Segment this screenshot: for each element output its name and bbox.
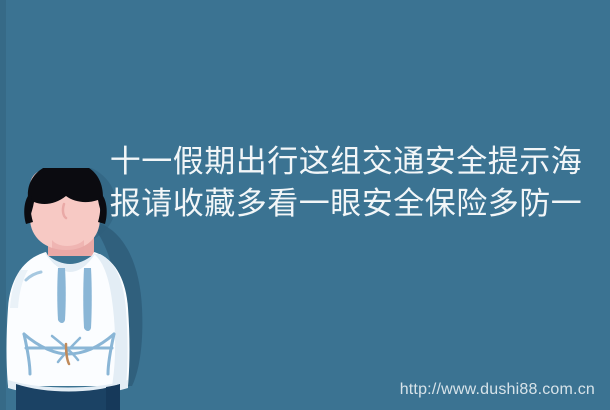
- headline-line-1: 十一假期出行这组交通安全提示海: [96, 141, 596, 183]
- thumbnail-canvas: 十一假期出行这组交通安全提示海 报请收藏多看一眼安全保险多防一 http://w…: [0, 0, 610, 410]
- watermark-url: http://www.dushi88.com.cn: [400, 380, 595, 400]
- headline-line-2: 报请收藏多看一眼安全保险多防一: [96, 183, 596, 225]
- page-title: 十一假期出行这组交通安全提示海 报请收藏多看一眼安全保险多防一: [96, 141, 596, 225]
